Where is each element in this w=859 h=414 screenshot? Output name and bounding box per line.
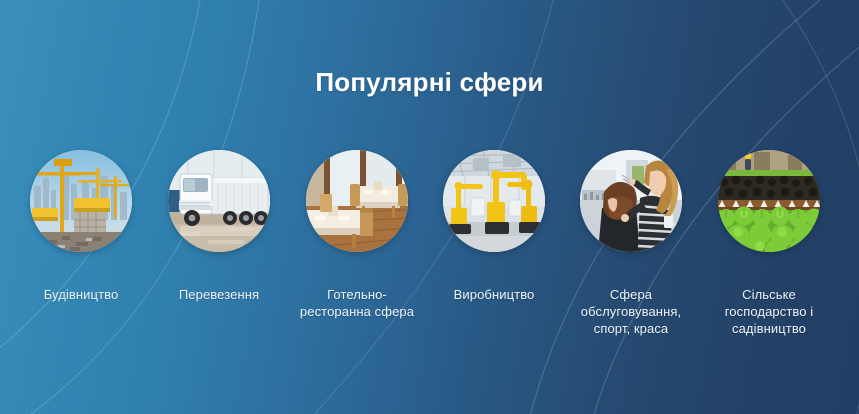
hair-salon-stylist-photo (580, 150, 682, 252)
sphere-label-hotel-restaurant: Готельно-ресторанна сфера (288, 286, 426, 320)
factory-robot-arms-photo (443, 150, 545, 252)
lettuce-field-rows-photo (718, 150, 820, 252)
sphere-item-construction[interactable]: Будівництво (12, 150, 150, 303)
restaurant-interior-tables-photo (306, 150, 408, 252)
agriculture-thumbnail[interactable] (718, 150, 820, 252)
sphere-label-construction: Будівництво (12, 286, 150, 303)
sphere-list: Будівництво (0, 150, 859, 370)
slide-canvas: Популярні сфери (0, 0, 859, 414)
sphere-label-transport: Перевезення (150, 286, 288, 303)
transport-thumbnail[interactable] (168, 150, 270, 252)
sphere-item-services[interactable]: Сфера обслуговування, спорт, краса (562, 150, 700, 337)
sphere-label-manufacturing: Виробництво (425, 286, 563, 303)
construction-site-cranes-photo (30, 150, 132, 252)
white-semi-truck-photo (168, 150, 270, 252)
page-title: Популярні сфери (0, 66, 859, 98)
sphere-label-agriculture: Сільське господарство і садівництво (700, 286, 838, 337)
manufacturing-thumbnail[interactable] (443, 150, 545, 252)
sphere-item-agriculture[interactable]: Сільське господарство і садівництво (700, 150, 838, 337)
services-thumbnail[interactable] (580, 150, 682, 252)
construction-thumbnail[interactable] (30, 150, 132, 252)
sphere-item-hotel-restaurant[interactable]: Готельно-ресторанна сфера (288, 150, 426, 320)
sphere-item-manufacturing[interactable]: Виробництво (425, 150, 563, 303)
hotel-restaurant-thumbnail[interactable] (306, 150, 408, 252)
sphere-label-services: Сфера обслуговування, спорт, краса (562, 286, 700, 337)
sphere-item-transport[interactable]: Перевезення (150, 150, 288, 303)
